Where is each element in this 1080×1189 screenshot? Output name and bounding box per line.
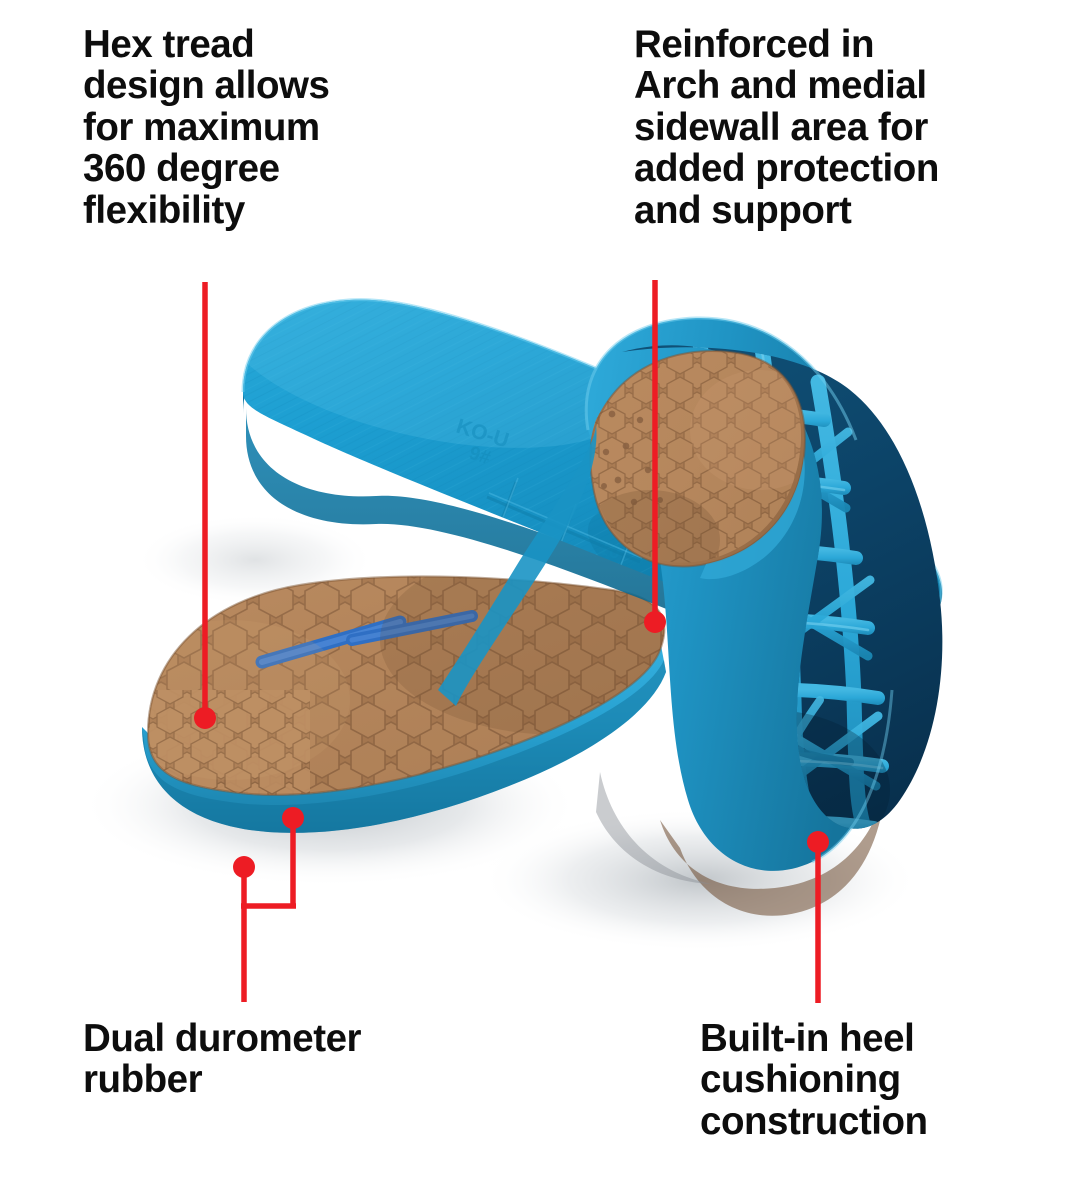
callout-dual-durometer: Dual durometer rubber (83, 1018, 503, 1101)
callout-heel-cushioning: Built-in heel cushioning construction (700, 1018, 1080, 1142)
callout-reinforced-arch: Reinforced in Arch and medial sidewall a… (634, 24, 1054, 231)
infographic-canvas: KO-U 9# 9 10 1KO (0, 0, 1080, 1189)
callout-hex-tread: Hex tread design allows for maximum 360 … (83, 24, 413, 231)
